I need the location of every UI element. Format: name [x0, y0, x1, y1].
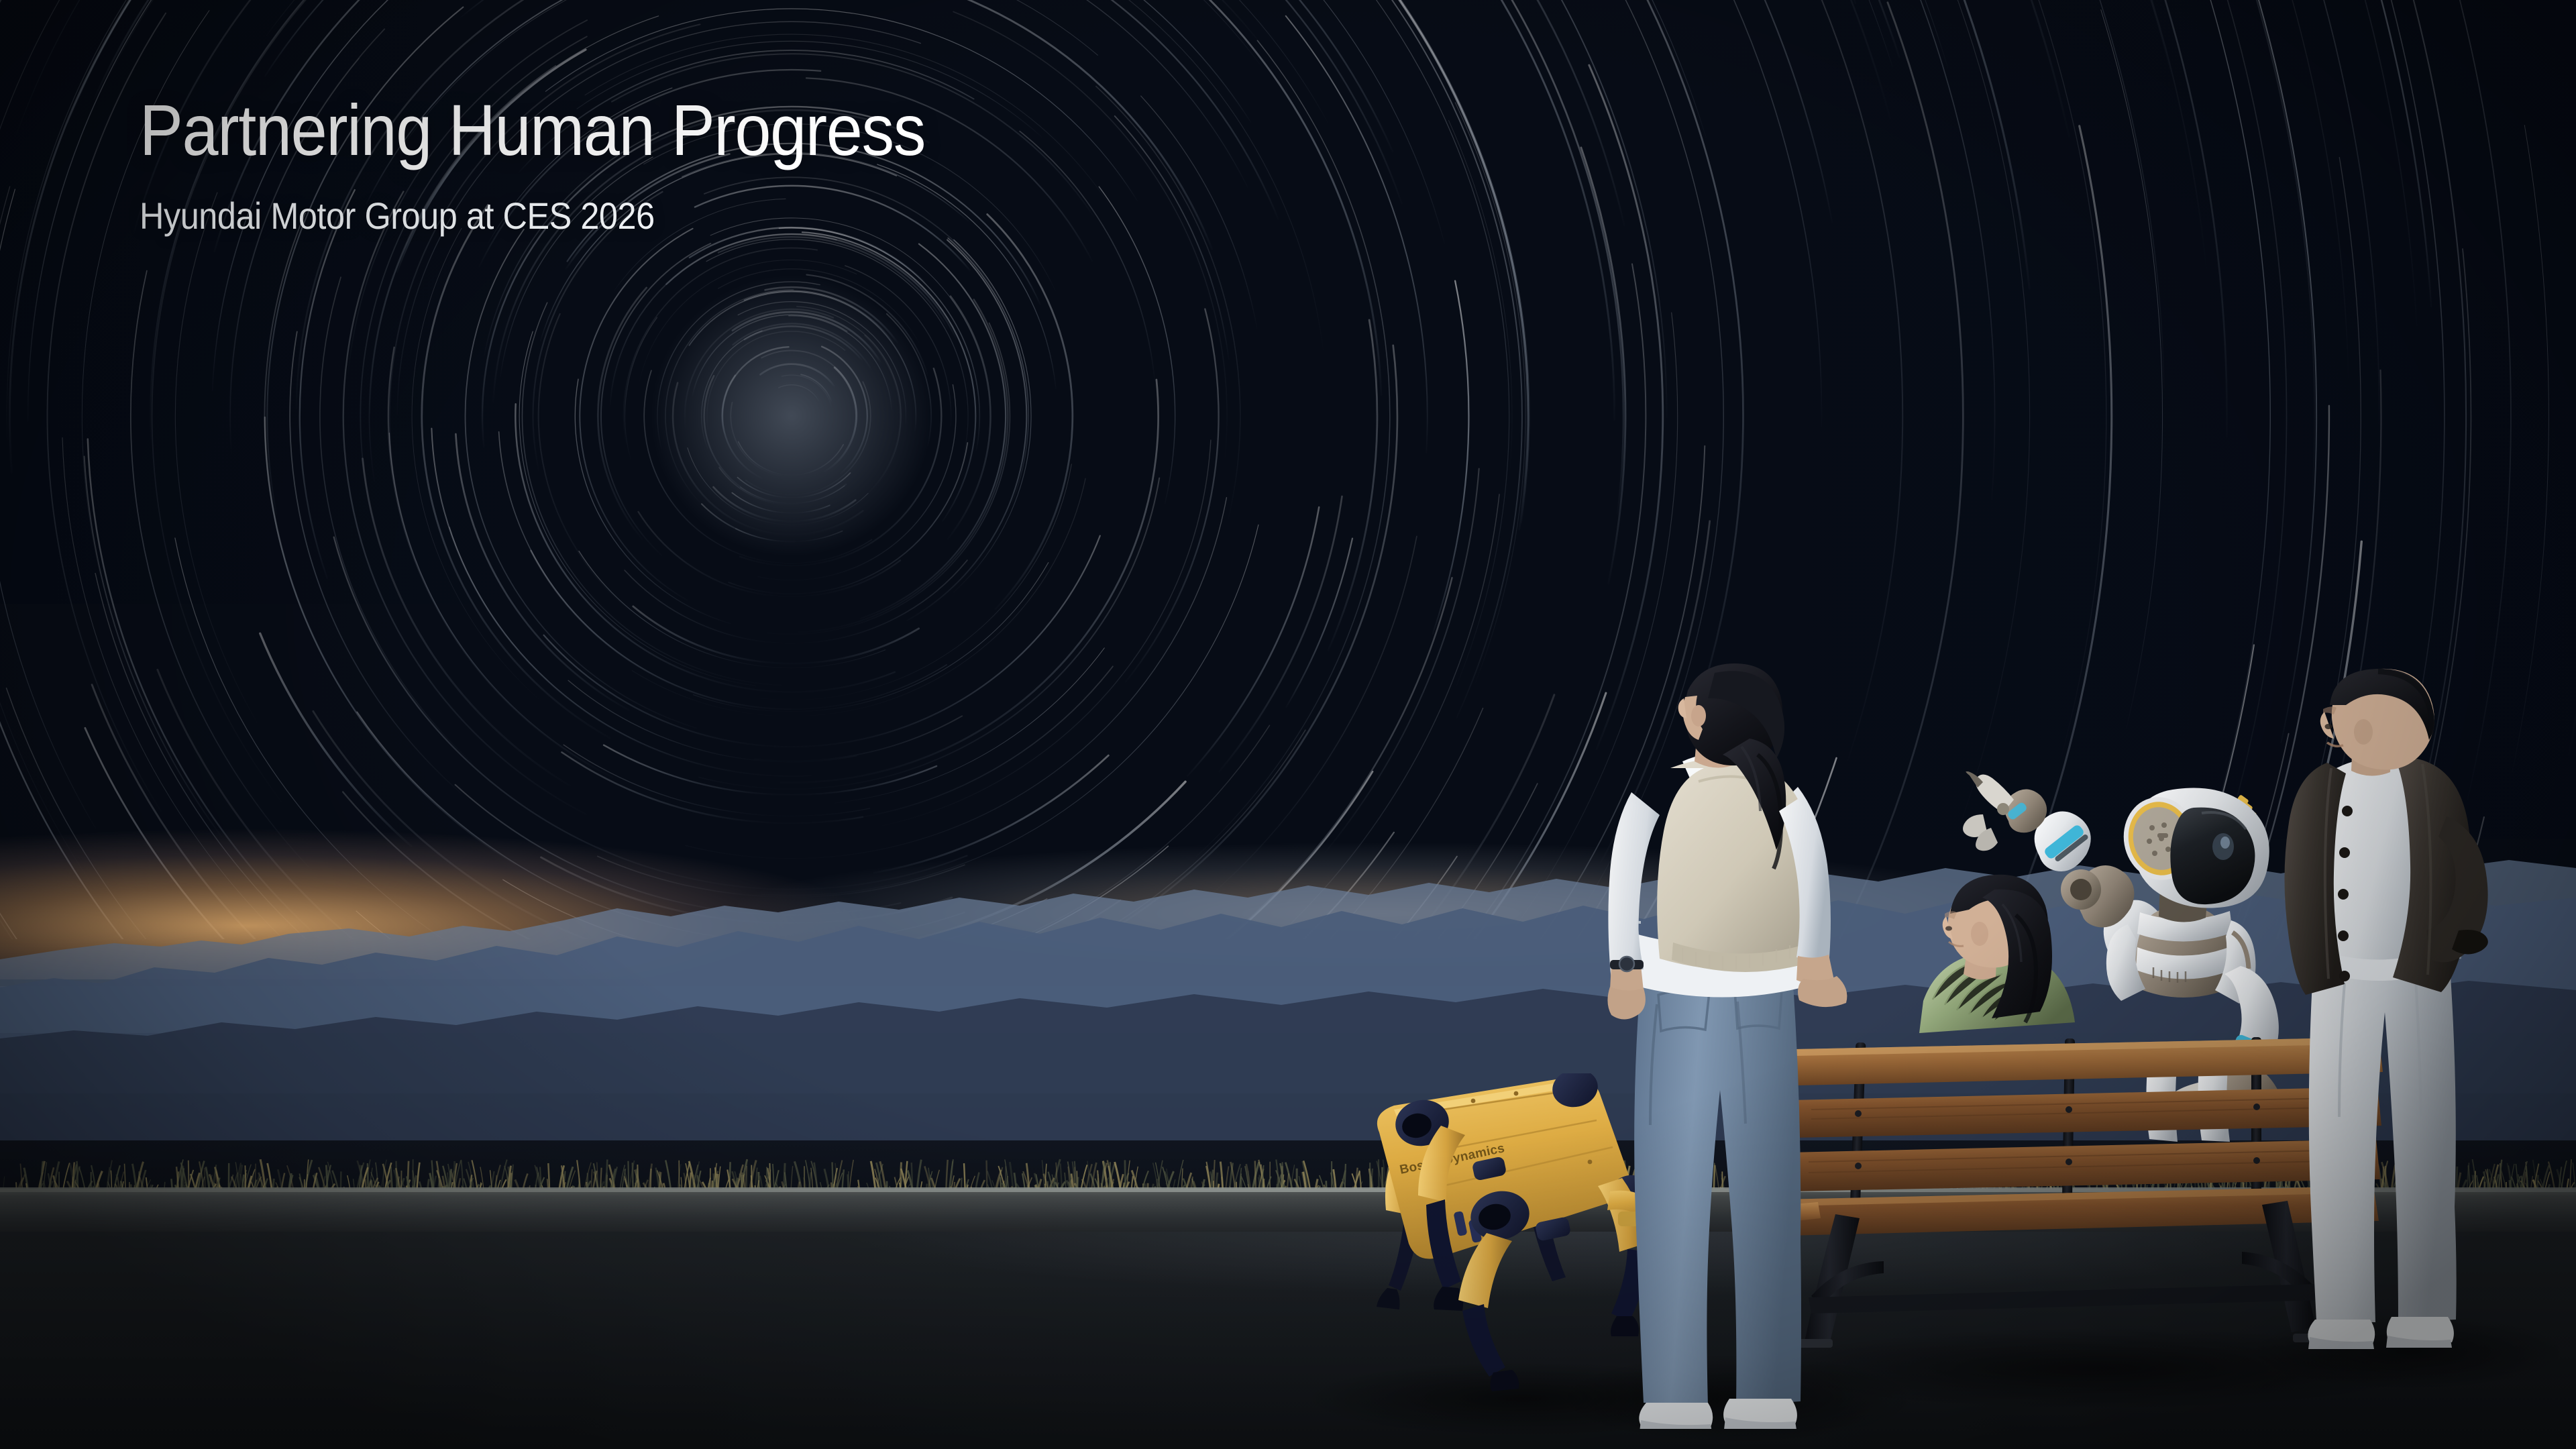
headline-block: Partnering Human Progress Hyundai Motor … [140, 94, 1012, 235]
woman-sweater-vest [1657, 759, 1818, 972]
robot-pointing-hand [1963, 771, 2028, 851]
key-visual-stage: BostonDynamics [0, 0, 2576, 1449]
dog-leg-mid-near [1458, 1233, 1519, 1391]
page-subtitle: Hyundai Motor Group at CES 2026 [140, 197, 925, 235]
man-trousers [2309, 950, 2461, 1322]
page-title: Partnering Human Progress [140, 94, 925, 166]
robot-head [2117, 788, 2269, 908]
man-standing[interactable] [2277, 667, 2519, 1365]
woman-standing[interactable] [1597, 661, 1878, 1429]
man-sneakers [2308, 1317, 2454, 1349]
woman-jeans [1634, 967, 1805, 1405]
woman-sneakers [1639, 1399, 1797, 1429]
robot-arm-pointing [1963, 771, 2163, 962]
